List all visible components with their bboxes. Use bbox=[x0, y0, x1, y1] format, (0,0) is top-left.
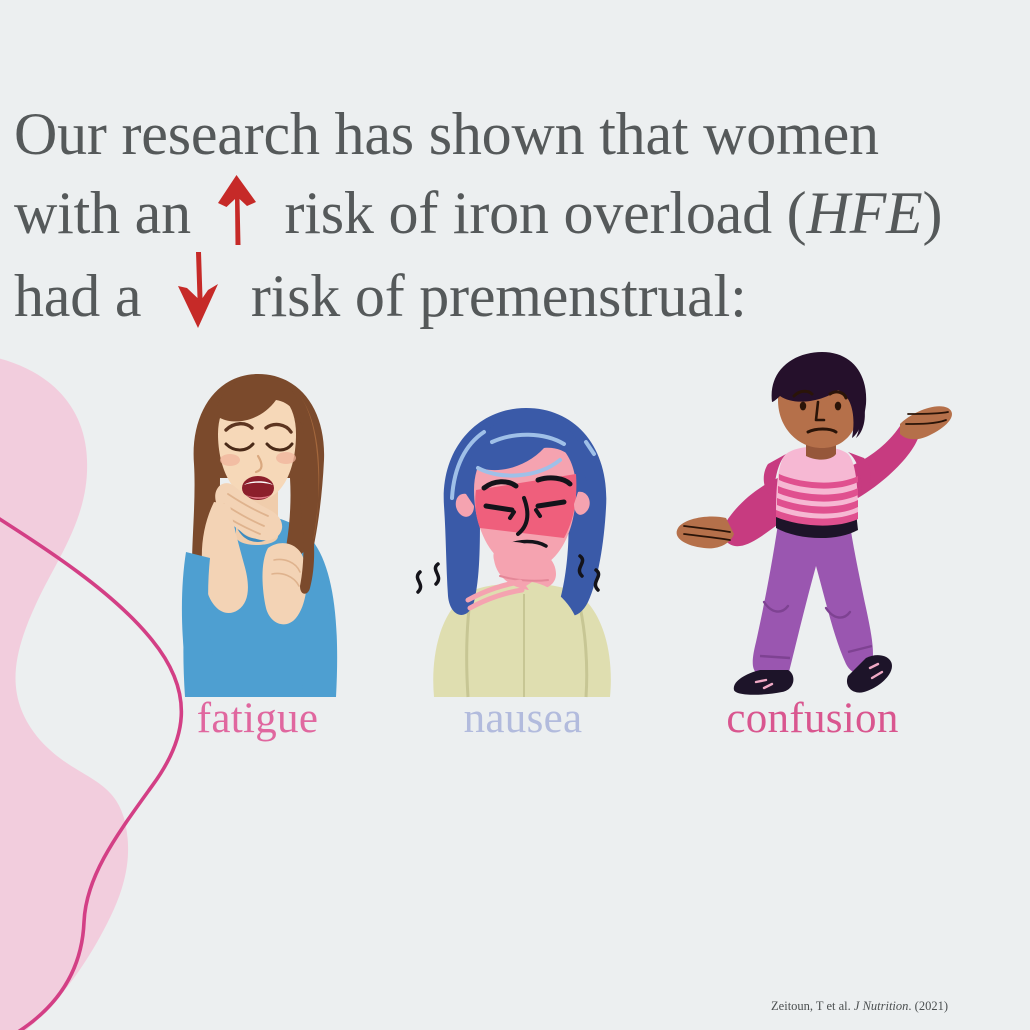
gene-name-hfe: HFE bbox=[806, 180, 922, 246]
infographic-slide: Our research has shown that women with a… bbox=[0, 0, 1030, 1030]
symptom-label-fatigue: fatigue bbox=[150, 694, 365, 744]
symptom-label-confusion: confusion bbox=[660, 694, 965, 744]
headline-line-3: had a risk of premenstrual: bbox=[14, 250, 1024, 327]
symptom-card-fatigue: fatigue bbox=[150, 352, 365, 752]
headline-line-1: Our research has shown that women bbox=[14, 96, 1024, 173]
citation-year: . (2021) bbox=[908, 999, 948, 1013]
headline-line-2-mid: risk of iron overload ( bbox=[285, 180, 807, 246]
citation-authors: Zeitoun, T et al. bbox=[771, 999, 851, 1013]
symptom-figures-row: fatigue bbox=[0, 352, 1030, 752]
yawning-woman-illustration bbox=[150, 352, 365, 697]
headline-line-2-tail: ) bbox=[923, 180, 943, 246]
symptom-label-nausea: nausea bbox=[408, 694, 638, 744]
headline-line-1-text: Our research has shown that women bbox=[14, 101, 879, 167]
symptom-card-confusion: confusion bbox=[660, 352, 965, 752]
headline-line-3-prefix: had a bbox=[14, 263, 141, 329]
headline-line-2-prefix: with an bbox=[14, 180, 191, 246]
headline-line-2: with an risk of iron overload (HFE) bbox=[14, 173, 1024, 250]
headline-line-3-suffix: risk of premenstrual: bbox=[251, 263, 747, 329]
citation: Zeitoun, T et al. J Nutrition. (2021) bbox=[771, 998, 948, 1014]
headline-text: Our research has shown that women with a… bbox=[14, 96, 1024, 327]
citation-journal: J Nutrition bbox=[854, 999, 909, 1013]
symptom-card-nausea: nausea bbox=[408, 352, 638, 752]
arrow-down-icon bbox=[174, 250, 222, 330]
shrugging-person-illustration bbox=[660, 352, 965, 697]
arrow-up-icon bbox=[214, 173, 260, 247]
nauseated-person-illustration bbox=[408, 394, 638, 739]
